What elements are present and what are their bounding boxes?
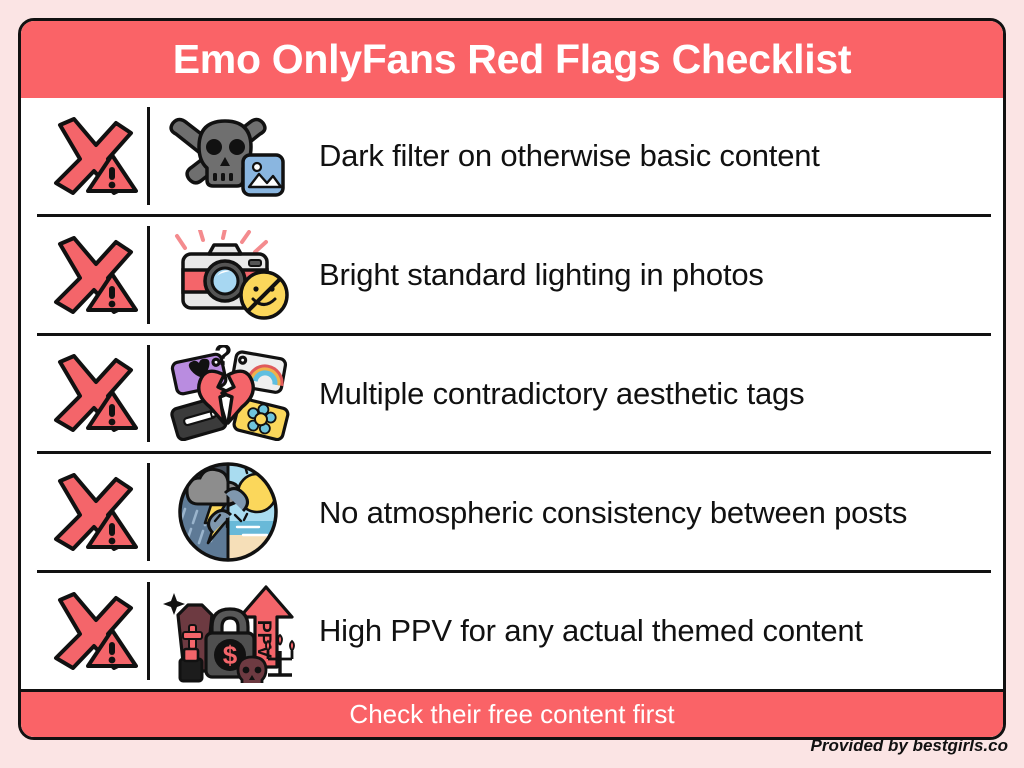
row-label-cell: High PPV for any actual themed content (305, 573, 991, 689)
row-label-cell: Bright standard lighting in photos (305, 217, 991, 333)
card-header: Emo OnlyFans Red Flags Checklist (21, 21, 1003, 98)
row-label: Multiple contradictory aesthetic tags (319, 374, 804, 413)
aesthetic-tags-broken-heart-icon: ? (150, 336, 305, 452)
red-x-warning-icon (37, 573, 147, 689)
row-label: High PPV for any actual themed content (319, 611, 863, 650)
row-label-cell: Multiple contradictory aesthetic tags (305, 336, 991, 452)
attribution-text: Provided by bestgirls.co (811, 736, 1008, 756)
table-row[interactable]: PPV $ (37, 573, 991, 689)
checklist-rows: Dark filter on otherwise basic content (21, 98, 1003, 689)
footer-message: Check their free content first (349, 699, 674, 730)
svg-text:PPV: PPV (253, 620, 274, 658)
card-footer: Check their free content first (21, 689, 1003, 737)
red-x-warning-icon (37, 217, 147, 333)
storm-sun-broken-chain-icon (150, 454, 305, 570)
row-label: No atmospheric consistency between posts (319, 493, 907, 532)
red-x-warning-icon (37, 98, 147, 214)
row-label: Dark filter on otherwise basic content (319, 136, 820, 175)
red-x-warning-icon (37, 454, 147, 570)
table-row[interactable]: No atmospheric consistency between posts (37, 454, 991, 573)
row-label-cell: No atmospheric consistency between posts (305, 454, 991, 570)
svg-text:?: ? (214, 345, 232, 372)
camera-flash-no-smiley-icon (150, 217, 305, 333)
checklist-card: Emo OnlyFans Red Flags Checklist (18, 18, 1006, 740)
coffin-lock-ppv-arrow-icon: PPV $ (150, 573, 305, 689)
infographic-page: Emo OnlyFans Red Flags Checklist (0, 0, 1024, 768)
table-row[interactable]: Bright standard lighting in photos (37, 217, 991, 336)
red-x-warning-icon (37, 336, 147, 452)
table-row[interactable]: Dark filter on otherwise basic content (37, 98, 991, 217)
skull-crossbones-photo-icon (150, 98, 305, 214)
row-label-cell: Dark filter on otherwise basic content (305, 98, 991, 214)
row-label: Bright standard lighting in photos (319, 255, 764, 294)
svg-text:$: $ (222, 640, 237, 670)
table-row[interactable]: ? Multiple contradictory aesthetic tags (37, 336, 991, 455)
page-title: Emo OnlyFans Red Flags Checklist (173, 36, 851, 83)
